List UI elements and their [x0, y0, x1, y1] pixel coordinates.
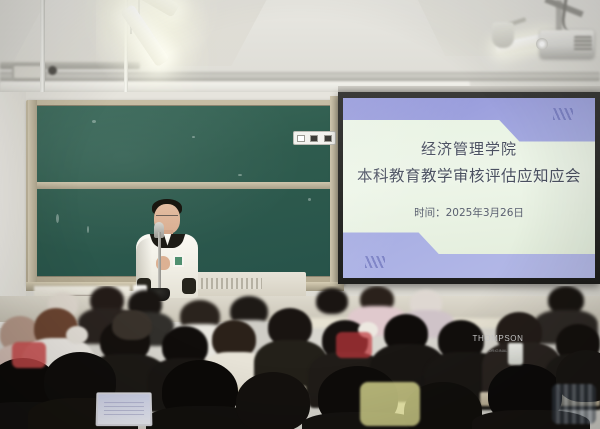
pipe-knob-icon — [48, 66, 57, 75]
microphone-stand — [158, 232, 161, 294]
ceiling-duct-upper — [0, 72, 600, 81]
hair-tie — [66, 326, 88, 344]
jacket-logo-patch — [173, 255, 184, 267]
slide-title-line-1: 经济管理学院 — [343, 138, 595, 159]
presenter — [128, 198, 204, 298]
jacket-text: THOMPSON — [470, 332, 526, 345]
projector-lens-icon — [536, 38, 548, 50]
presentation-slide: 经济管理学院 本科教育教学审核评估应知应会 时间：2025年3月26日 — [343, 98, 595, 278]
jacket-subtext: ORIGINAL — [478, 348, 518, 353]
projector-vent — [574, 36, 592, 52]
vertical-pipe — [40, 0, 45, 96]
plaid-garment — [552, 384, 596, 424]
glasses-icon — [156, 215, 178, 220]
outlet-socket-right — [324, 135, 332, 142]
wall-speaker-icon — [492, 22, 514, 48]
yellow-garment — [360, 382, 420, 426]
outlet-socket-left — [297, 135, 305, 142]
red-garment — [12, 342, 46, 368]
blackboard-divider — [31, 182, 339, 189]
laptop-screen-content — [104, 402, 144, 416]
red-garment-2 — [336, 332, 372, 358]
wall-outlet-icon[interactable] — [293, 131, 336, 145]
outlet-socket-center — [310, 135, 318, 142]
slide-decoration-top-right — [553, 108, 573, 120]
laptop-icon[interactable] — [96, 392, 153, 426]
classroom-photo: 经济管理学院 本科教育教学审核评估应知应会 时间：2025年3月26日 — [0, 0, 600, 429]
slide-date-line: 时间：2025年3月26日 — [343, 205, 595, 220]
projection-screen: 经济管理学院 本科教育教学审核评估应知应会 时间：2025年3月26日 — [338, 92, 600, 284]
slide-title-line-2: 本科教育教学审核评估应知应会 — [343, 164, 595, 186]
slide-decoration-bottom-left — [365, 256, 385, 268]
drink-cup — [508, 343, 523, 365]
blackboard-rail-left — [28, 100, 37, 286]
